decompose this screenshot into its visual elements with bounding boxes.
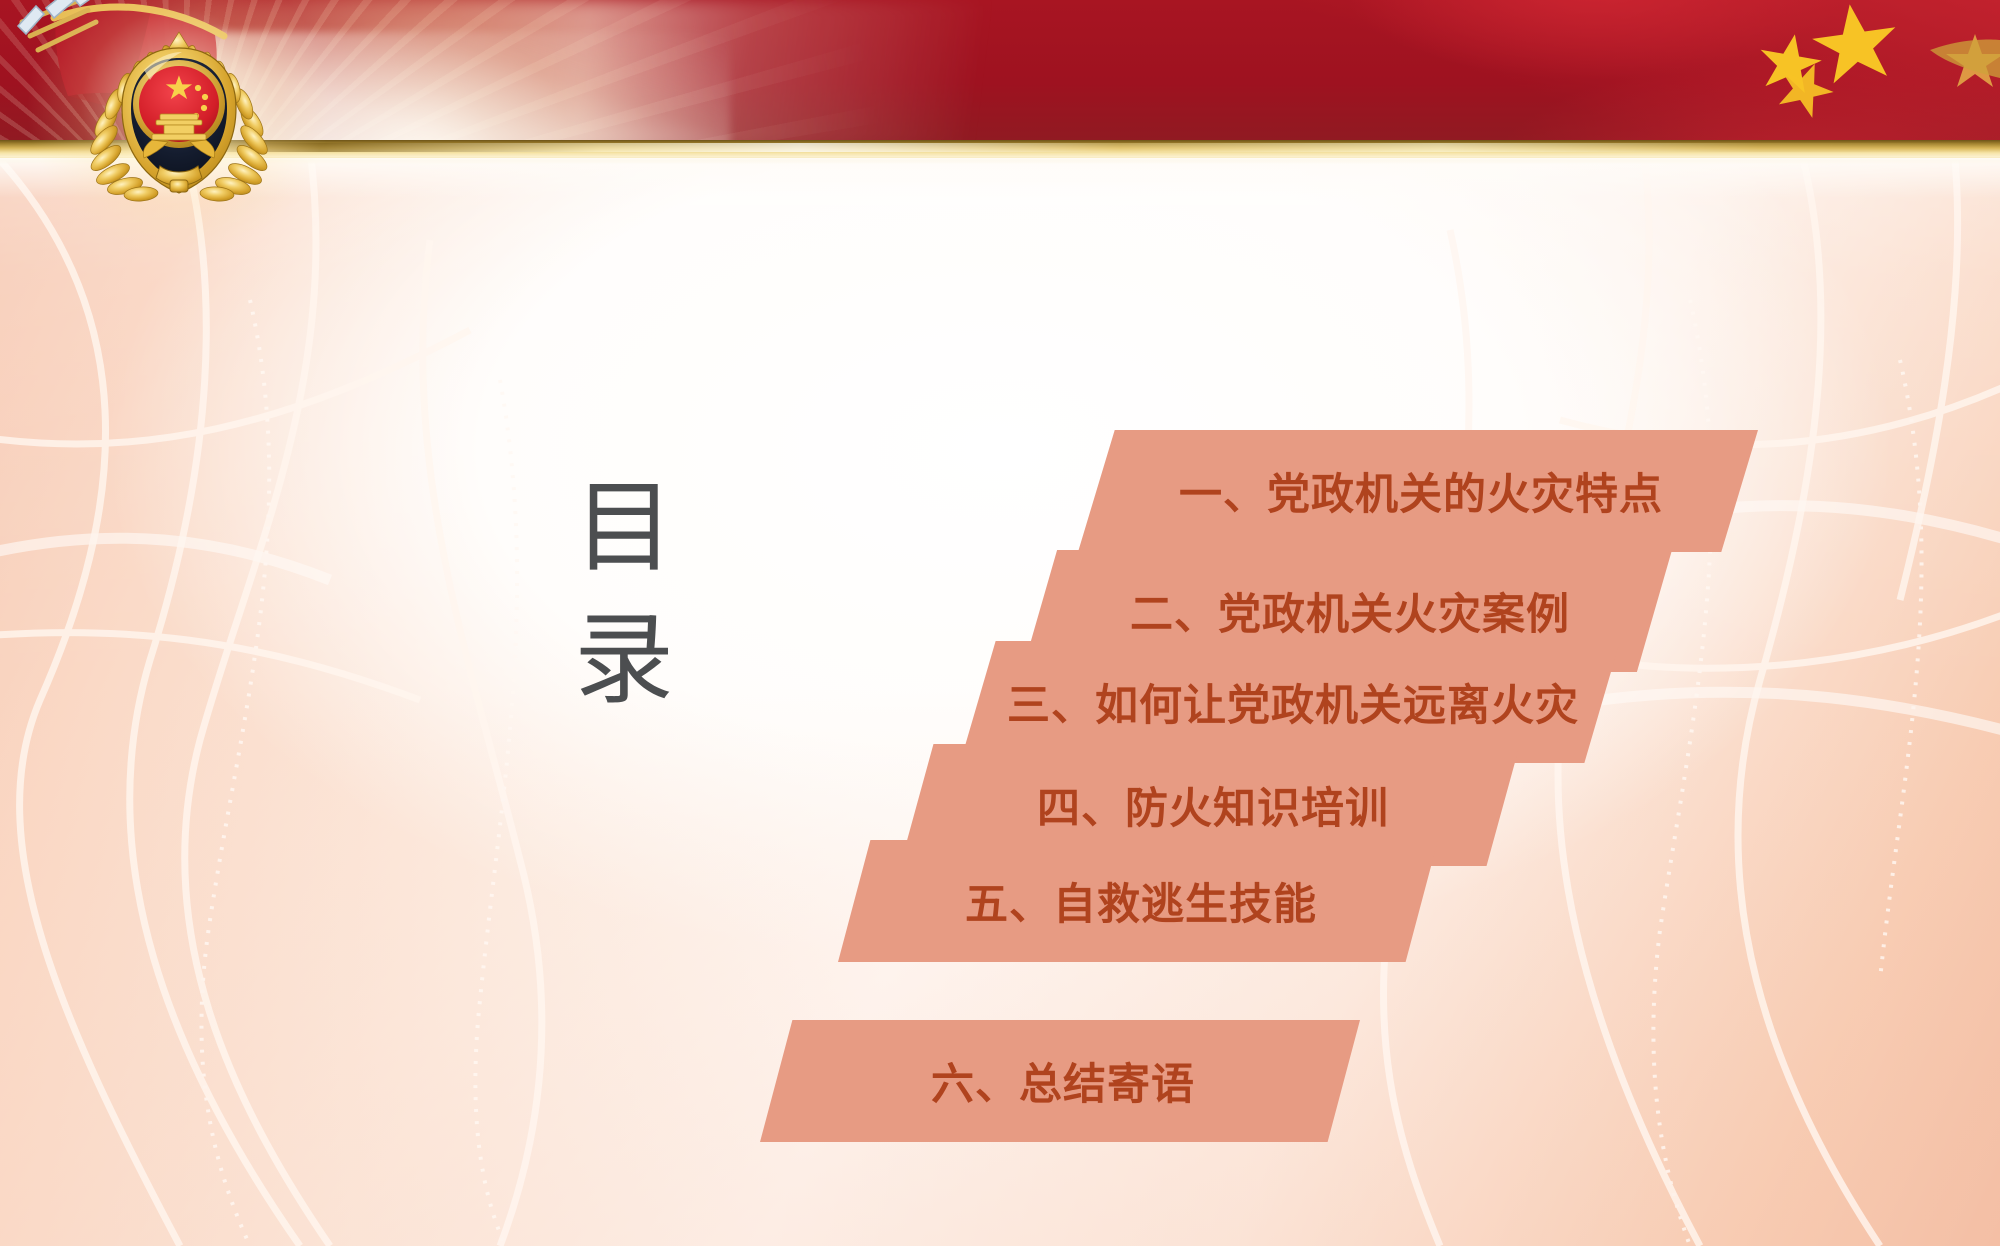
toc-item-1[interactable]: 一、党政机关的火灾特点: [1078, 430, 1758, 552]
toc-item-5-label: 五、自救逃生技能: [959, 870, 1317, 932]
toc-item-6[interactable]: 六、总结寄语: [760, 1020, 1360, 1142]
toc-item-4-label: 四、防火知识培训: [1031, 774, 1389, 836]
toc-item-6-label: 六、总结寄语: [925, 1050, 1195, 1112]
toc-list: 一、党政机关的火灾特点 二、党政机关火灾案例 三、如何让党政机关远离火灾 四、防…: [0, 0, 2000, 1246]
toc-item-2-label: 二、党政机关火灾案例: [1124, 580, 1570, 642]
toc-item-3-label: 三、如何让党政机关远离火灾: [1001, 671, 1579, 733]
toc-item-5[interactable]: 五、自救逃生技能: [838, 840, 1438, 962]
slide-canvas: 目 录 一、党政机关的火灾特点 二、党政机关火灾案例 三、如何让党政机关远离火灾…: [0, 0, 2000, 1246]
toc-item-1-label: 一、党政机关的火灾特点: [1173, 460, 1663, 522]
